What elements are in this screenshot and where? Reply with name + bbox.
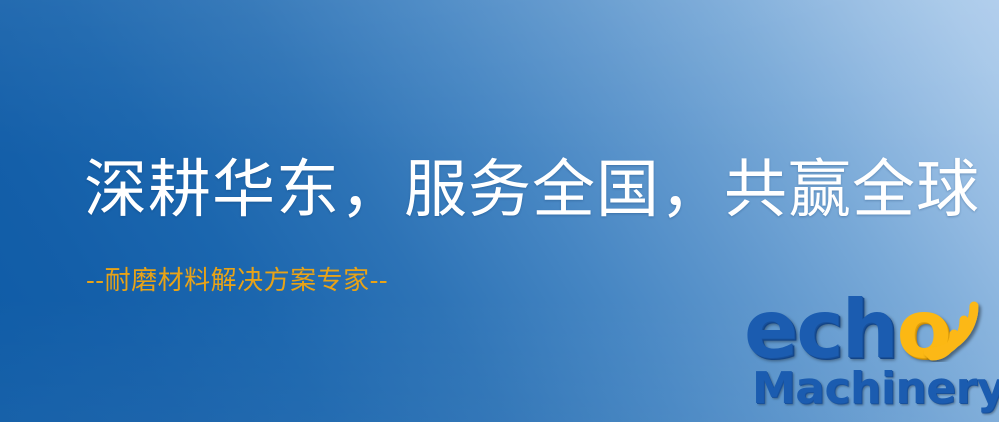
logo-wordmark: echo: [744, 288, 950, 372]
banner-subtitle: --耐磨材料解决方案专家--: [86, 264, 388, 298]
hero-banner: 深耕华东，服务全国，共赢全球 --耐磨材料解决方案专家-- echo Machi…: [0, 0, 999, 422]
banner-headline: 深耕华东，服务全国，共赢全球: [84, 149, 980, 231]
logo-tagline: Machinery®: [752, 364, 999, 419]
echo-machinery-logo[interactable]: echo Machinery®: [744, 288, 999, 422]
logo-tagline-text: Machinery: [752, 363, 999, 414]
wifi-signal-arcs-icon: [922, 290, 998, 362]
